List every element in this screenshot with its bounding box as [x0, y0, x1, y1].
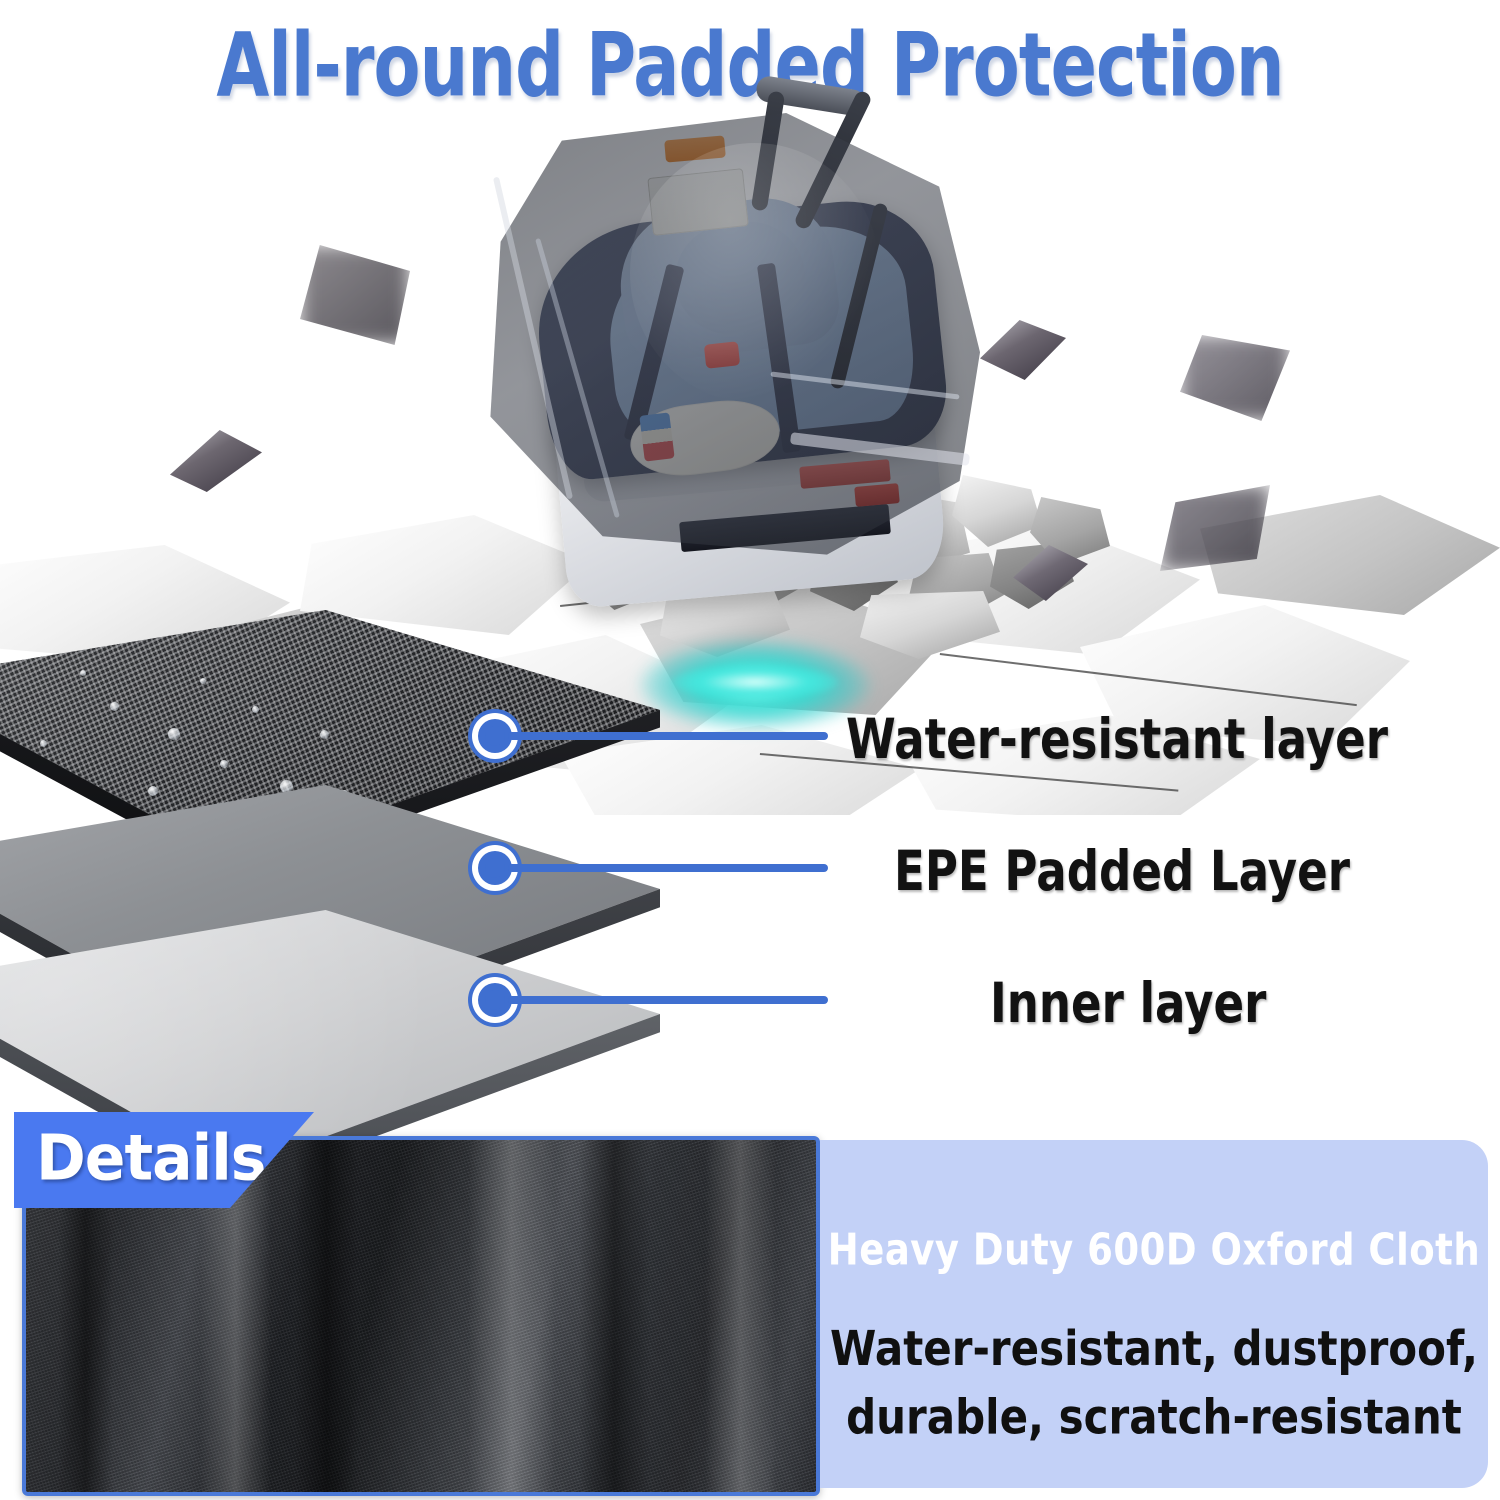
infant-car-seat — [470, 113, 990, 643]
callout-line — [508, 996, 828, 1004]
callout-dot-icon — [478, 851, 512, 885]
details-body-line-2: durable, scratch-resistant — [820, 1383, 1488, 1451]
callout-line — [508, 864, 828, 872]
details-body-line-1: Water-resistant, dustproof, — [820, 1315, 1488, 1383]
details-text-panel: Heavy Duty 600D Oxford Cloth Water-resis… — [820, 1140, 1488, 1488]
details-body: Water-resistant, dustproof, durable, scr… — [820, 1315, 1488, 1451]
details-section: Details Heavy Duty 600D Oxford Cloth Wat… — [0, 1120, 1500, 1500]
layer-label-epe-padded: EPE Padded Layer — [894, 839, 1350, 904]
callout-dot-icon — [478, 983, 512, 1017]
product-infographic: All-round Padded Protection — [0, 0, 1500, 1500]
callout-line — [508, 732, 828, 740]
details-tab-label: Details — [36, 1122, 266, 1196]
details-title: Heavy Duty 600D Oxford Cloth — [820, 1224, 1488, 1275]
layer-label-water-resistant: Water-resistant layer — [846, 707, 1388, 772]
callout-dot-icon — [478, 719, 512, 753]
layer-label-inner: Inner layer — [990, 971, 1266, 1036]
